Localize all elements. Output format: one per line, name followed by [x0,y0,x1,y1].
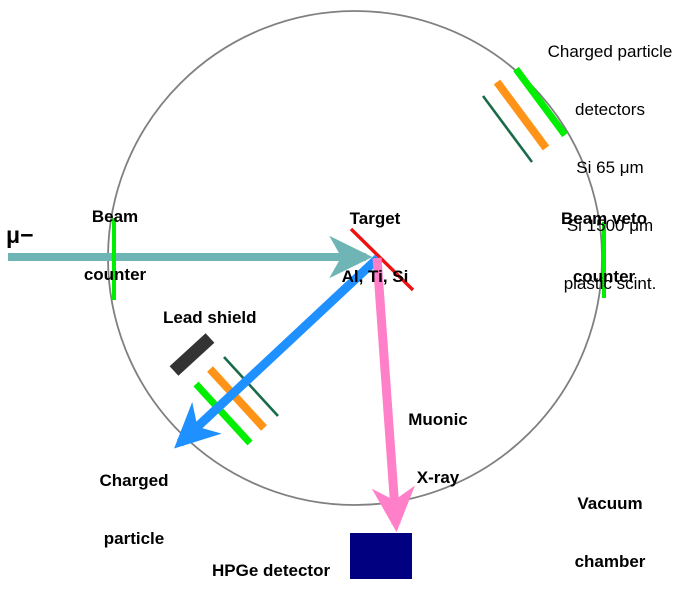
silicon-65um-bar [224,357,278,416]
charged-particle-label-line1: Charged [72,471,196,490]
charged-particle-detector-stack-lower-left [196,357,278,443]
cp-detectors-label-line2: detectors [526,100,694,119]
cp-detector-layer-si1500: Si 1500 μm [526,216,694,235]
cp-detectors-label-line1: Charged particle [526,42,694,61]
target-materials-label: Al, Ti, Si [315,267,435,286]
muonic-xray-setup-diagram: μ− Beam counter Target Al, Ti, Si Beam v… [0,0,696,589]
hpge-detector-box [350,533,412,579]
vacuum-chamber-label-line1: Vacuum [540,494,680,513]
hpge-detector-label: HPGe detector [212,561,330,580]
cp-detector-layer-plastic: plastic scint. [526,274,694,293]
beam-counter-label-line2: counter [55,265,175,284]
muonic-xray-label-line2: X-ray [388,468,488,487]
lead-shield-label: Lead shield [163,308,257,327]
plastic-scintillator-bar [196,384,250,443]
cp-detector-layer-si65: Si 65 μm [526,158,694,177]
charged-particle-detectors-label: Charged particle detectors Si 65 μm Si 1… [526,3,694,332]
charged-particle-label-line2: particle [72,529,196,548]
vacuum-chamber-label-line2: chamber [540,552,680,571]
silicon-65um-bar [483,96,532,162]
beam-counter-label-line1: Beam [55,207,175,226]
beam-counter-label: Beam counter [55,168,175,323]
lead-shield-bar [174,338,210,371]
vacuum-chamber-label: Vacuum chamber Φ305 mm [540,455,680,589]
muon-beam-label: μ− [6,222,34,248]
muonic-xray-label-line1: Muonic [388,410,488,429]
muonic-xray-label: Muonic X-ray [388,371,488,526]
target-label-title: Target [315,209,435,228]
charged-particle-label: Charged particle [72,432,196,587]
target-label: Target Al, Ti, Si [315,170,435,325]
